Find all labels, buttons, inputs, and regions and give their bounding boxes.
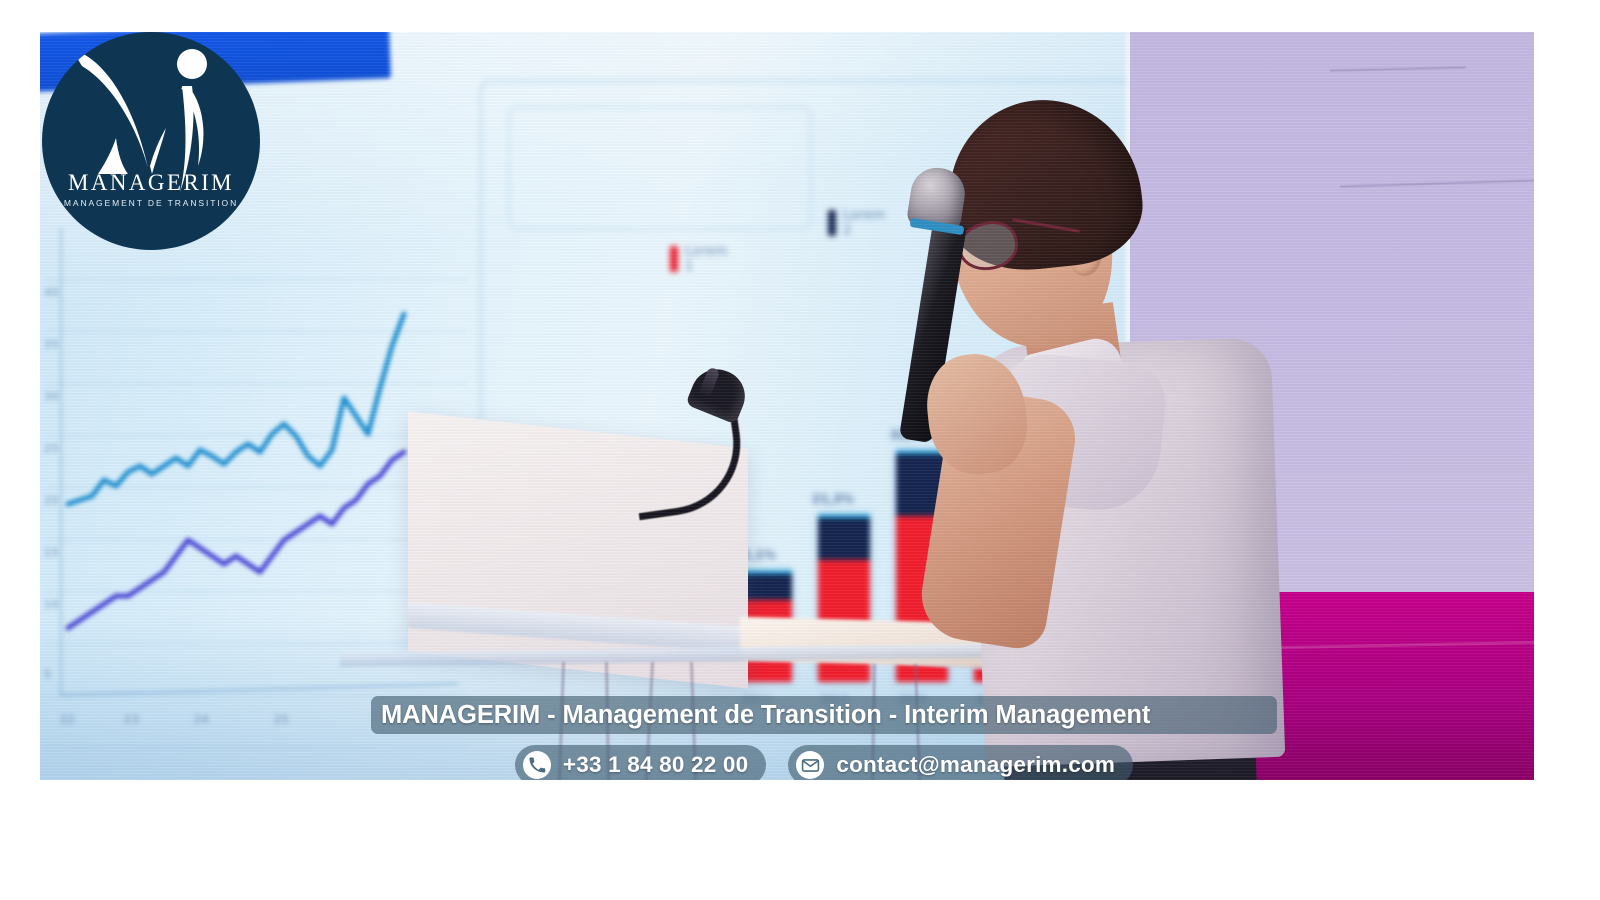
logo-inner: MANAGERIM MANAGEMENT DE TRANSITION (42, 32, 260, 250)
email-label: contact@managerim.com (836, 752, 1115, 778)
managerim-logo[interactable]: MANAGERIM MANAGEMENT DE TRANSITION (42, 32, 260, 250)
bar-value-label: 21,3% (812, 492, 854, 506)
line-chart-ytick: 25 (44, 442, 59, 455)
legend-item: Lorem 2 (828, 208, 888, 238)
email-icon (796, 751, 824, 779)
line-chart-ytick: 15 (44, 546, 59, 559)
line-series-upper (68, 314, 404, 504)
line-chart-xtick: 25 (274, 713, 289, 726)
line-chart-xtick: 23 (124, 713, 139, 726)
email-badge[interactable]: contact@managerim.com (788, 745, 1133, 780)
line-chart-ytick: 20 (44, 494, 59, 507)
line-chart-ytick: 10 (44, 598, 59, 611)
slide-frame-inner (508, 106, 812, 230)
line-chart-xtick: 22 (60, 713, 75, 726)
logo-name: MANAGERIM (42, 170, 260, 196)
speaker-figure (900, 72, 1320, 780)
line-chart-ytick: 30 (44, 390, 59, 403)
line-chart-series (46, 228, 466, 748)
line-chart-ytick: 40 (44, 286, 59, 299)
phone-label: +33 1 84 80 22 00 (563, 752, 748, 778)
slide-line-chart: 40 35 30 25 20 15 10 5 22 23 24 25 (46, 228, 466, 748)
legend-item: Lorem 1 (670, 244, 730, 274)
hero-photo: 40 35 30 25 20 15 10 5 22 23 24 25 Lorem… (40, 32, 1534, 780)
photo-title-bar: MANAGERIM - Management de Transition - I… (371, 696, 1277, 734)
logo-tagline: MANAGEMENT DE TRANSITION (42, 198, 260, 208)
line-chart-xtick: 24 (194, 713, 209, 726)
legend-swatch-navy (828, 210, 836, 236)
line-chart-ytick: 5 (44, 668, 52, 681)
page-root: 40 35 30 25 20 15 10 5 22 23 24 25 Lorem… (0, 0, 1600, 900)
phone-icon (523, 751, 551, 779)
phone-badge[interactable]: +33 1 84 80 22 00 (515, 745, 766, 780)
photo-title-text: MANAGERIM - Management de Transition - I… (381, 701, 1150, 730)
line-series-lower (68, 452, 404, 628)
legend-label: Lorem 2 (843, 208, 888, 238)
line-chart-ytick: 35 (44, 338, 59, 351)
legend-label: Lorem 1 (685, 244, 730, 274)
contact-row: +33 1 84 80 22 00 contact@managerim.com (371, 744, 1277, 780)
legend-swatch-red (670, 246, 678, 272)
